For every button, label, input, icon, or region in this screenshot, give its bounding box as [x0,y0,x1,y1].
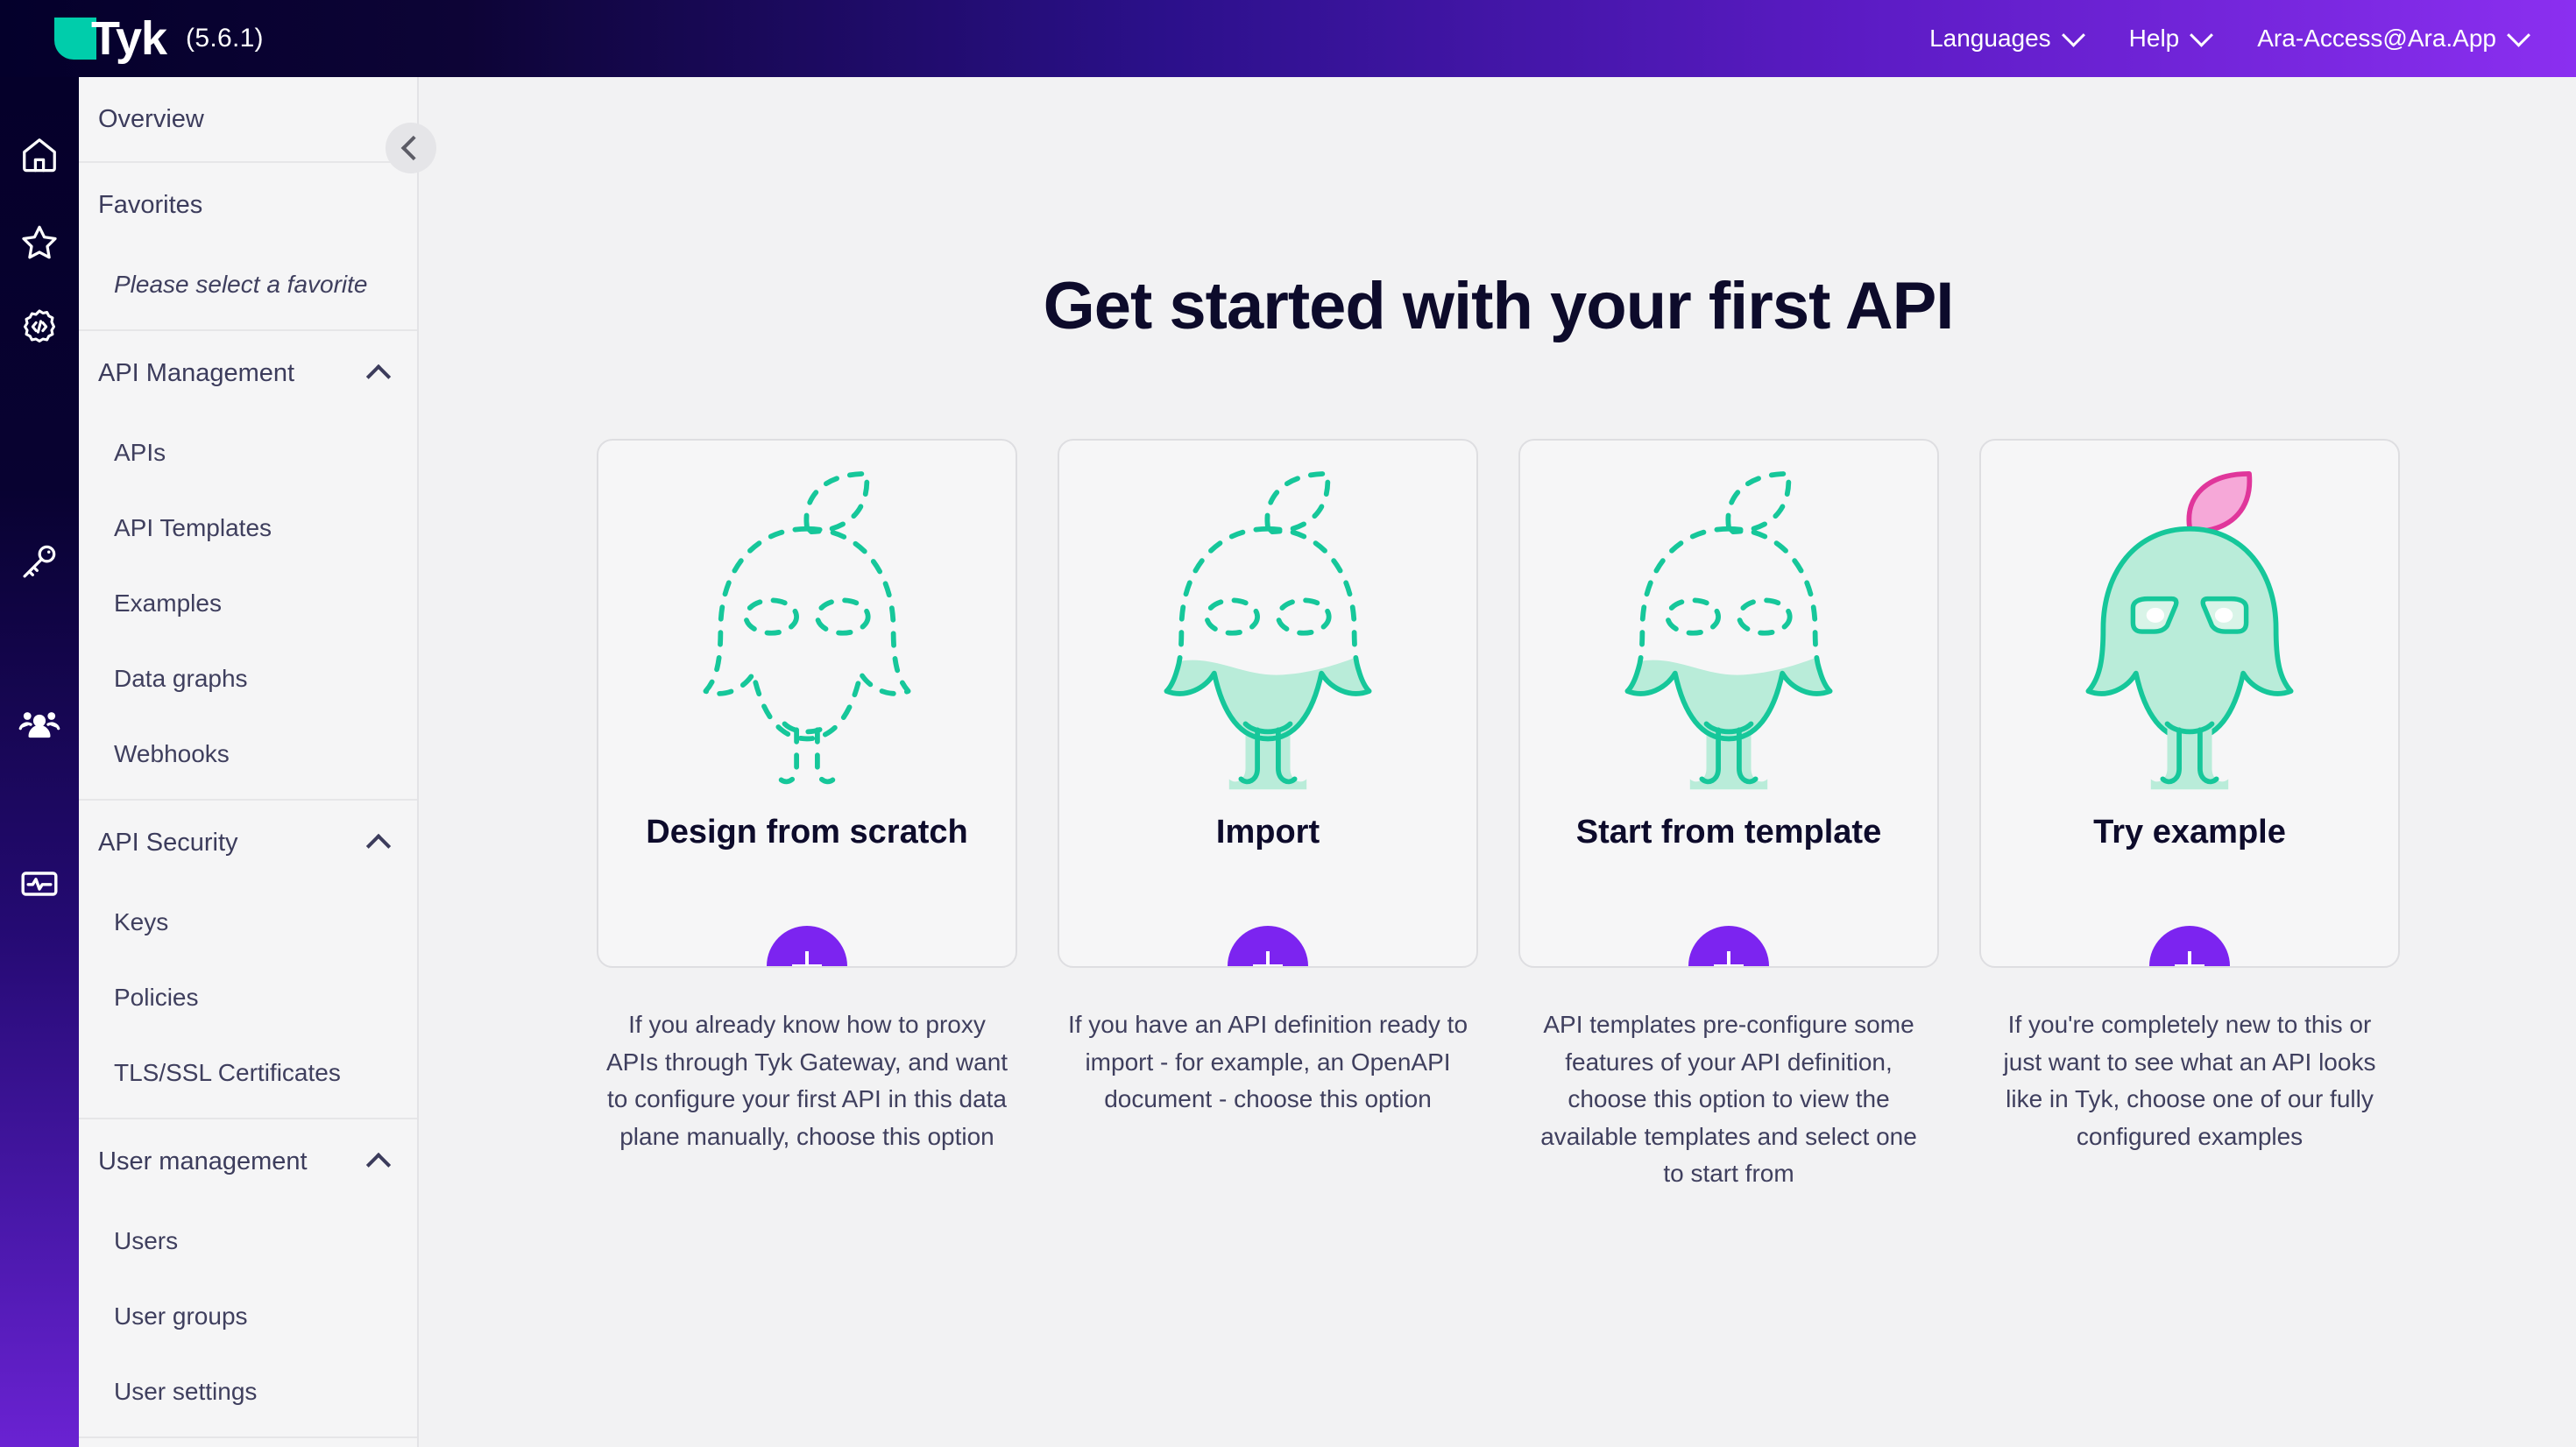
sidebar-section-overview: Overview [79,77,417,163]
card-add-button[interactable] [2149,926,2230,968]
card-description: If you already know how to proxy APIs th… [597,1006,1017,1155]
sidebar-item-user-management[interactable]: User management [79,1119,417,1203]
sidebar-favorite-placeholder: Please select a favorite [79,247,417,322]
sidebar-item-favorites[interactable]: Favorites [79,163,417,247]
sidebar: Overview Favorites Please select a favor… [79,77,419,1447]
mascot-half-filled-illustration [1520,441,1937,817]
nav-languages[interactable]: Languages [1929,25,2082,53]
top-nav: Languages Help Ara-Access@Ara.App [1929,25,2527,53]
sidebar-item-api-management[interactable]: API Management [79,331,417,415]
card-title: Start from template [1520,814,1937,851]
sidebar-item-policies[interactable]: Policies [79,960,417,1035]
card-title: Try example [1981,814,2398,851]
sidebar-item-examples[interactable]: Examples [79,566,417,641]
main-content: Get started with your first API [421,77,2576,1447]
sidebar-item-data-graphs[interactable]: Data graphs [79,641,417,716]
card-description: If you have an API definition ready to i… [1058,1006,1478,1119]
sidebar-item-apis[interactable]: APIs [79,415,417,491]
rail-gear-code-icon[interactable] [0,287,79,366]
chevron-down-icon [2062,23,2085,46]
spacer [79,792,417,799]
sidebar-item-overview[interactable]: Overview [79,77,417,161]
nav-help[interactable]: Help [2129,25,2211,53]
rail-key-icon[interactable] [0,522,79,601]
tyk-logo-text: Tyk [91,15,166,62]
nav-account-label: Ara-Access@Ara.App [2257,25,2496,53]
sidebar-item-api-templates[interactable]: API Templates [79,491,417,566]
sidebar-item-webhooks[interactable]: Webhooks [79,716,417,792]
chevron-left-icon [401,136,426,160]
sidebar-section-api-management: API Management APIs API Templates Exampl… [79,331,417,801]
tyk-logo-mark [54,18,96,60]
plus-icon-vertical [2188,951,2191,968]
sidebar-section-favorites: Favorites Please select a favorite [79,163,417,331]
card-column: Try example If you're completely new to … [1979,439,2400,1193]
nav-account[interactable]: Ara-Access@Ara.App [2257,25,2527,53]
sidebar-section-label: User management [98,1147,308,1176]
spacer [79,322,417,329]
sidebar-item-user-settings[interactable]: User settings [79,1354,417,1429]
card-add-button[interactable] [1228,926,1308,968]
chevron-up-icon[interactable] [366,1153,391,1177]
sidebar-item-users[interactable]: Users [79,1203,417,1279]
card-design-from-scratch[interactable]: Design from scratch [597,439,1017,968]
card-column: Start from template API templates pre-co… [1518,439,1939,1193]
card-title: Design from scratch [598,814,1016,851]
get-started-cards: Design from scratch If you already know … [421,439,2576,1193]
top-bar: Tyk (5.6.1) Languages Help Ara-Access@Ar… [0,0,2576,77]
tyk-logo[interactable]: Tyk [54,15,166,62]
mascot-half-filled-illustration [1059,441,1476,817]
mascot-outline-dashed-illustration [598,441,1016,817]
icon-rail [0,77,79,1447]
sidebar-item-monitoring[interactable]: Monitoring [79,1438,417,1447]
plus-icon-vertical [805,951,809,968]
chevron-down-icon [2190,23,2213,46]
card-column: Design from scratch If you already know … [597,439,1017,1193]
plus-icon-vertical [1266,951,1270,968]
mascot-filled-illustration [1981,441,2398,817]
nav-help-label: Help [2129,25,2180,53]
nav-languages-label: Languages [1929,25,2051,53]
sidebar-collapse-button[interactable] [386,123,436,173]
card-title: Import [1059,814,1476,851]
sidebar-section-label: API Security [98,829,238,858]
card-column: Import If you have an API definition rea… [1058,439,1478,1193]
rail-star-icon[interactable] [0,203,79,282]
card-description: API templates pre-configure some feature… [1518,1006,1939,1193]
chevron-up-icon[interactable] [366,364,391,389]
card-try-example[interactable]: Try example [1979,439,2400,968]
rail-home-icon[interactable] [0,116,79,194]
rail-users-icon[interactable] [0,683,79,762]
chevron-up-icon[interactable] [366,834,391,858]
spacer [79,1429,417,1436]
sidebar-section-label: Overview [98,105,204,134]
card-description: If you're completely new to this or just… [1979,1006,2400,1155]
sidebar-item-tls-ssl-certificates[interactable]: TLS/SSL Certificates [79,1035,417,1111]
card-start-from-template[interactable]: Start from template [1518,439,1939,968]
card-import[interactable]: Import [1058,439,1478,968]
rail-monitoring-icon[interactable] [0,844,79,923]
sidebar-section-monitoring: Monitoring [79,1438,417,1447]
version-label: (5.6.1) [186,24,264,53]
sidebar-item-user-groups[interactable]: User groups [79,1279,417,1354]
brand[interactable]: Tyk (5.6.1) [54,15,264,62]
sidebar-item-keys[interactable]: Keys [79,885,417,960]
spacer [79,1111,417,1118]
chevron-down-icon [2507,23,2530,46]
plus-icon-vertical [1727,951,1730,968]
sidebar-section-user-management: User management Users User groups User s… [79,1119,417,1438]
sidebar-item-api-security[interactable]: API Security [79,801,417,885]
sidebar-section-label: Favorites [98,191,202,220]
sidebar-section-label: API Management [98,359,294,388]
card-add-button[interactable] [767,926,847,968]
sidebar-section-api-security: API Security Keys Policies TLS/SSL Certi… [79,801,417,1119]
page-title: Get started with your first API [421,268,2576,344]
card-add-button[interactable] [1688,926,1769,968]
